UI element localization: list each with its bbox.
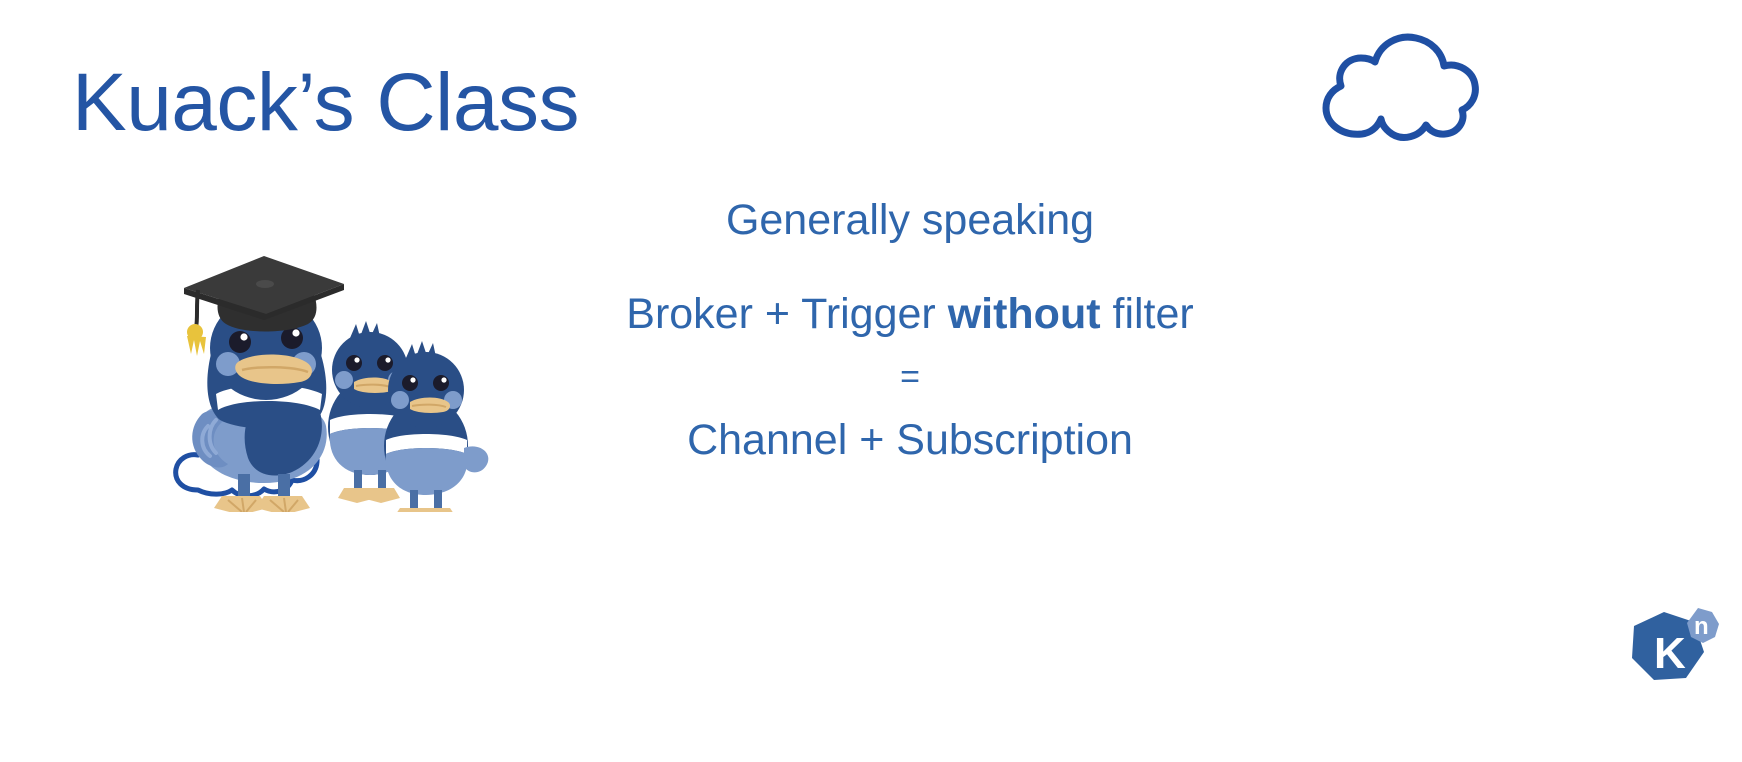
logo-letter-k: K (1654, 629, 1686, 678)
body-line-equation-right: Channel + Subscription (520, 416, 1300, 464)
slide-canvas: Kuack’s Class (0, 0, 1742, 762)
logo-letter-n: n (1694, 613, 1709, 640)
equals-sign: = (520, 360, 1300, 394)
equation-left-suffix: filter (1101, 290, 1194, 338)
graduate-bird-family-illustration (168, 222, 504, 512)
body-line-intro: Generally speaking (520, 196, 1300, 244)
knative-logo: K n (1624, 596, 1728, 700)
equation-left-emphasis: without (948, 290, 1101, 338)
page-title: Kuack’s Class (72, 62, 579, 144)
body-line-equation-left: Broker + Trigger without filter (520, 290, 1300, 338)
cloud-outline-icon (1306, 26, 1492, 144)
body-text-block: Generally speaking Broker + Trigger with… (520, 196, 1300, 464)
equation-left-prefix: Broker + Trigger (626, 290, 947, 338)
tassel-icon (187, 324, 206, 356)
small-bird-right (384, 341, 488, 512)
